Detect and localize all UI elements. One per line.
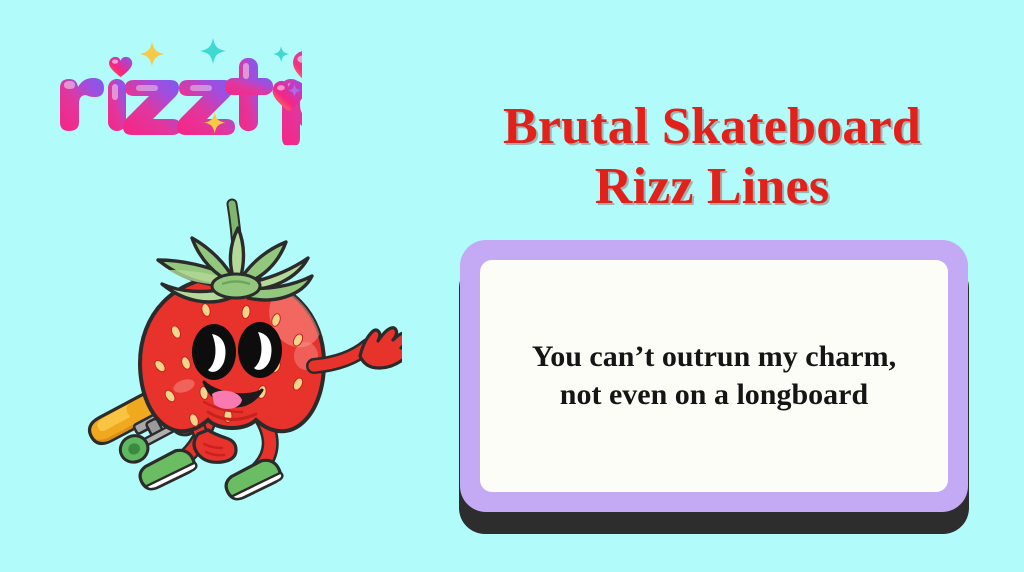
quote-card: You can’t outrun my charm, not even on a… bbox=[459, 240, 969, 534]
page-title: Brutal Skateboard Rizz Lines bbox=[404, 97, 1020, 217]
sparkle-gold-icon bbox=[140, 42, 164, 66]
eye-left-icon bbox=[192, 324, 236, 380]
quote-line-1: You can’t outrun my charm, bbox=[532, 340, 896, 373]
quote-card-frame: You can’t outrun my charm, not even on a… bbox=[460, 240, 968, 512]
rizztopic-logo[interactable] bbox=[52, 30, 302, 145]
strawberry-skateboarder-illustration bbox=[62, 188, 402, 560]
sparkle-teal-icon bbox=[200, 38, 226, 64]
eye-right-icon bbox=[238, 322, 282, 378]
waving-arm bbox=[314, 328, 402, 368]
logo-wordmark bbox=[60, 58, 302, 145]
quote-line-2: not even on a longboard bbox=[560, 378, 868, 411]
page-title-line-2: Rizz Lines bbox=[404, 157, 1020, 217]
quote-text: You can’t outrun my charm, not even on a… bbox=[532, 338, 896, 414]
sparkle-teal-small-icon bbox=[273, 46, 289, 62]
poster-canvas: Brutal Skateboard Rizz Lines bbox=[0, 0, 1024, 572]
page-title-line-1: Brutal Skateboard bbox=[404, 97, 1020, 157]
quote-card-inner-panel: You can’t outrun my charm, not even on a… bbox=[480, 260, 948, 492]
heart-icon bbox=[109, 57, 132, 77]
